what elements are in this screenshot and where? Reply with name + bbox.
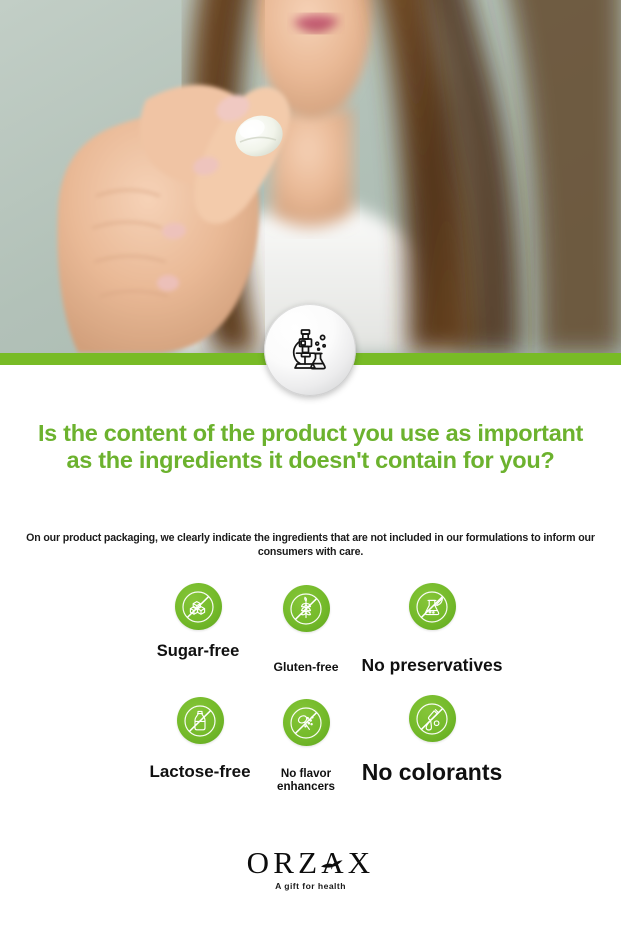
bird-icon xyxy=(320,859,344,871)
hero-photo-image xyxy=(0,0,621,353)
badge-gluten-free: Gluten-free xyxy=(248,585,364,674)
badge-label-flavor-line-1: No flavor xyxy=(254,768,358,781)
headline-line-1: Is the content of the product you use as… xyxy=(38,420,583,446)
infographic-page: Is the content of the product you use as… xyxy=(0,0,621,931)
brand-logo: ORZAX A gift for health xyxy=(0,847,621,891)
badge-label-no-colorants: No colorants xyxy=(346,760,518,785)
badge-label-gluten-free: Gluten-free xyxy=(248,661,364,674)
badge-label-sugar-free: Sugar-free xyxy=(128,643,268,661)
subtext-paragraph: On our product packaging, we clearly ind… xyxy=(14,531,607,559)
no-preservatives-icon xyxy=(409,583,456,630)
free-from-badge-grid: Sugar-free xyxy=(0,583,621,803)
badge-label-no-flavor-enhancers: No flavor enhancers xyxy=(254,768,358,793)
brand-wordmark: ORZAX xyxy=(247,847,375,878)
brand-tagline: A gift for health xyxy=(0,881,621,891)
badge-no-flavor-enhancers: No flavor enhancers xyxy=(254,699,358,793)
badge-label-lactose-free: Lactose-free xyxy=(130,763,270,781)
badge-sugar-free: Sugar-free xyxy=(128,583,268,661)
badge-no-preservatives: No preservatives xyxy=(352,583,512,675)
no-lactose-icon xyxy=(177,697,224,744)
badge-lactose-free: Lactose-free xyxy=(130,697,270,781)
headline-line-2: as the ingredients it doesn't contain fo… xyxy=(6,447,615,474)
no-flavor-enhancers-icon xyxy=(283,699,330,746)
badge-row-1: Sugar-free xyxy=(0,583,621,693)
page-title: Is the content of the product you use as… xyxy=(0,420,621,475)
no-gluten-icon xyxy=(283,585,330,632)
hero-photo-section xyxy=(0,0,621,353)
no-colorants-icon xyxy=(409,695,456,742)
microscope-flask-icon xyxy=(264,304,356,396)
badge-row-2: Lactose-free xyxy=(0,693,621,803)
content-section: Is the content of the product you use as… xyxy=(0,365,621,931)
badge-label-no-preservatives: No preservatives xyxy=(352,656,512,675)
badge-label-flavor-line-2: enhancers xyxy=(254,781,358,794)
badge-no-colorants: No colorants xyxy=(346,695,518,785)
brand-wordmark-text: ORZAX xyxy=(247,845,375,880)
no-sugar-icon xyxy=(175,583,222,630)
